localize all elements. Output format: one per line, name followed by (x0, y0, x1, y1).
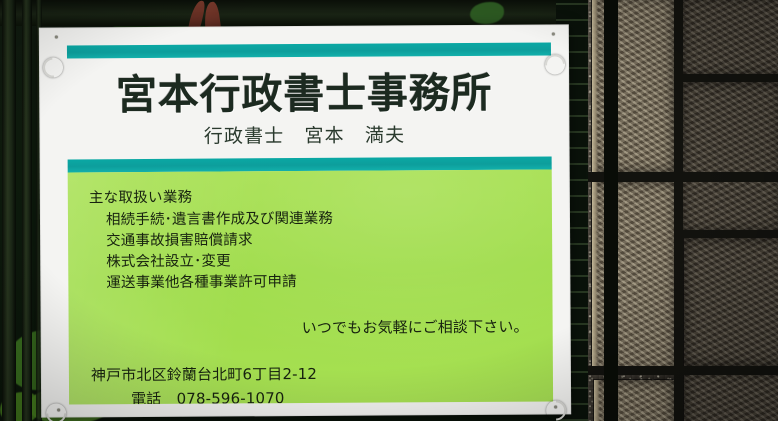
mortar-joint (682, 230, 778, 238)
wall-block (684, 372, 778, 421)
services-list: 相続手続･遺言書作成及び関連業務 交通事故損害賠償請求 株式会社設立･変更 運送… (106, 209, 334, 294)
mount-screw (552, 32, 555, 35)
fence-post-left (22, 0, 32, 421)
photo-scene: 宮本行政書士事務所 行政書士 宮本 満夫 主な取扱い業務 相続手続･遺言書作成及… (0, 0, 778, 421)
green-info-panel: 主な取扱い業務 相続手続･遺言書作成及び関連業務 交通事故損害賠償請求 株式会社… (68, 169, 553, 404)
fence-top-rail (0, 0, 600, 26)
list-item: 相続手続･遺言書作成及び関連業務 (106, 209, 333, 231)
list-item: 運送事業他各種事業許可申請 (106, 272, 333, 294)
wall-block (682, 82, 778, 232)
signboard: 宮本行政書士事務所 行政書士 宮本 満夫 主な取扱い業務 相続手続･遺言書作成及… (39, 24, 571, 417)
services-heading: 主な取扱い業務 (89, 186, 193, 208)
office-address: 神戸市北区鈴蘭台北町6丁目2-12 (91, 363, 317, 385)
fence-post-left (2, 0, 16, 421)
sign-title: 宮本行政書士事務所 (39, 58, 569, 121)
mount-screw (55, 36, 58, 39)
wall-block (684, 238, 778, 366)
list-item: 交通事故損害賠償請求 (106, 230, 333, 252)
list-item: 株式会社設立･変更 (106, 251, 333, 273)
wall-shadow-gap (604, 0, 618, 421)
teal-bar-top (67, 42, 551, 58)
wall-block (682, 0, 778, 76)
consultation-tagline: いつでもお気軽にご相談下さい。 (302, 316, 529, 338)
mortar-joint (682, 74, 778, 82)
office-phone: 電話 078-596-1070 (131, 387, 285, 404)
sign-subtitle: 行政書士 宮本 満夫 (39, 119, 569, 149)
mortar-joint (674, 0, 683, 421)
